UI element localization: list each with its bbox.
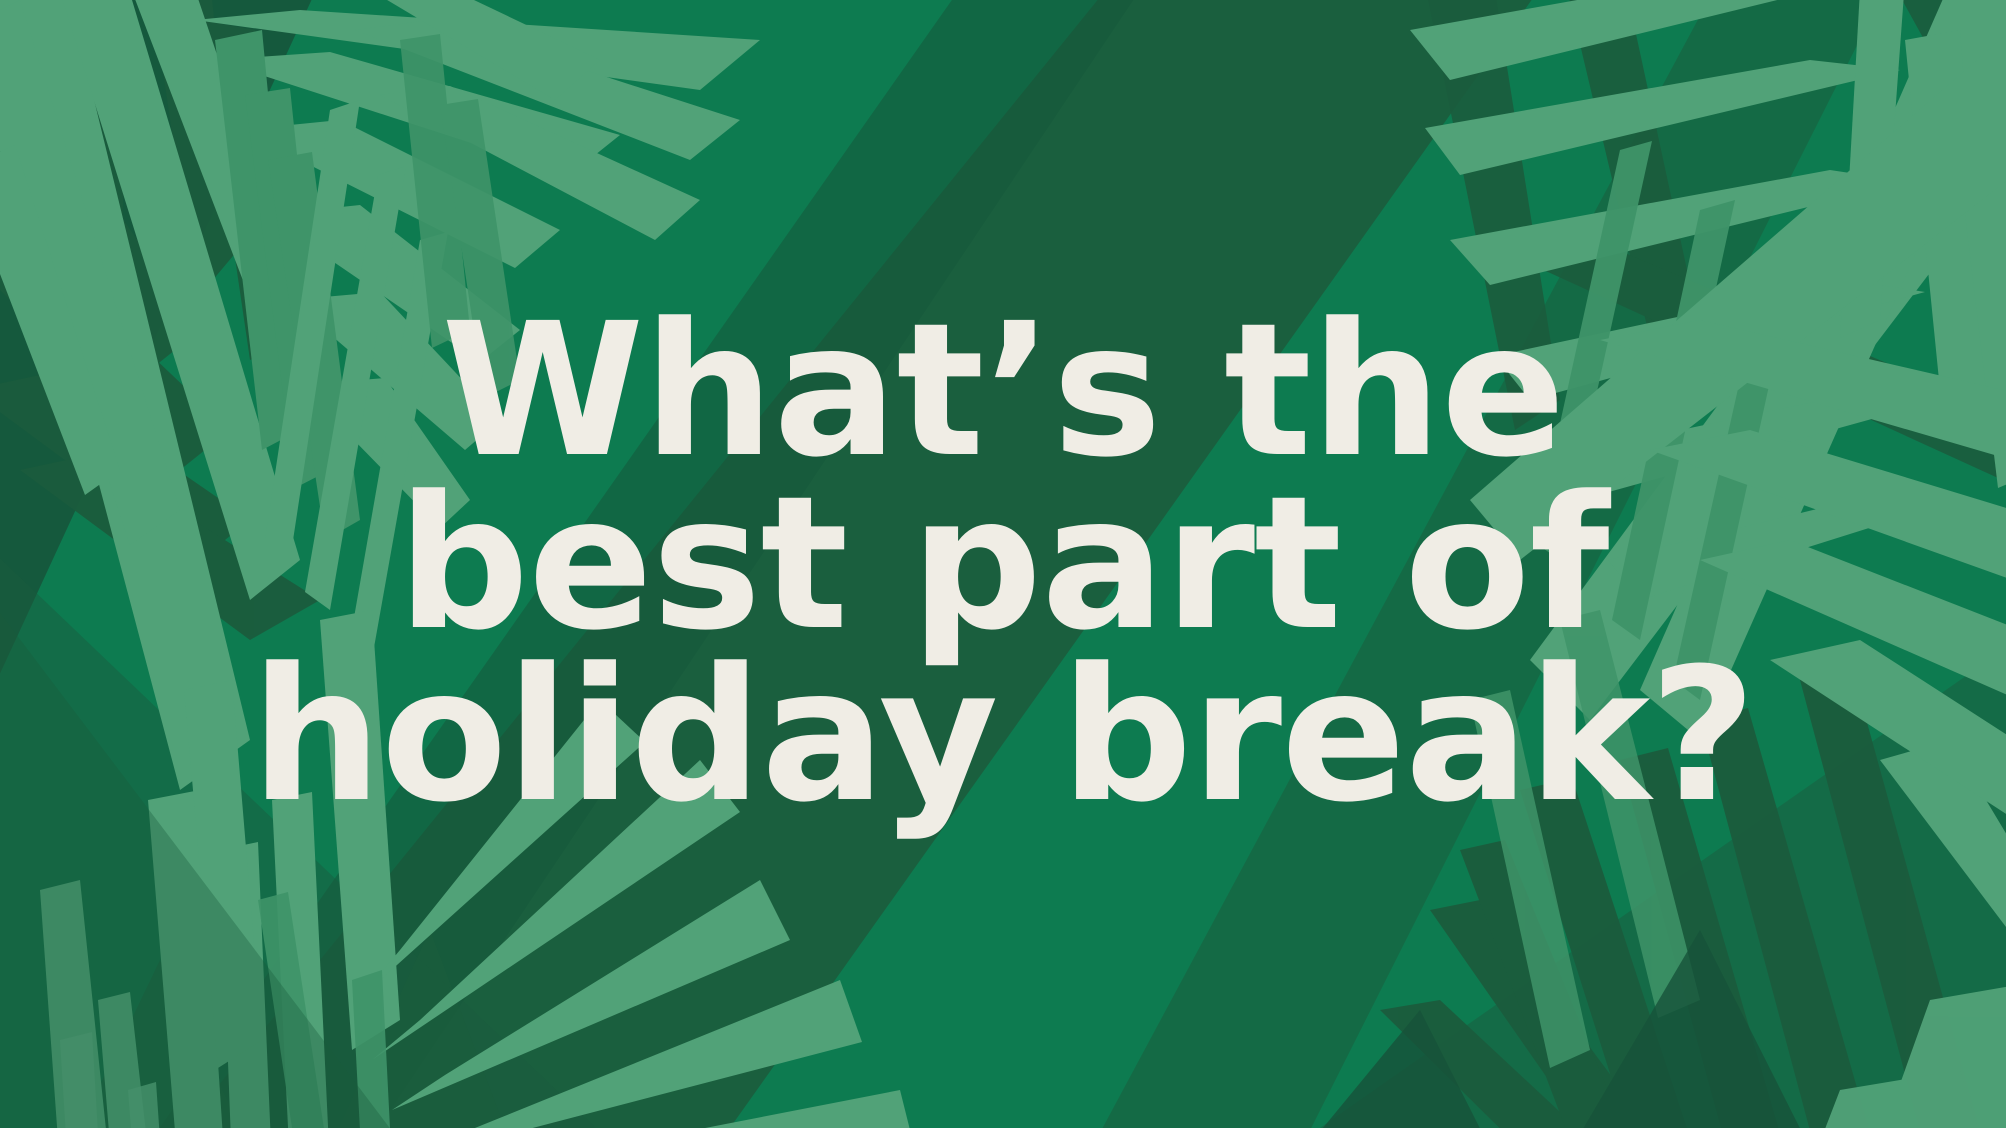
background-illustration	[0, 0, 2006, 1128]
slide-canvas: What’s the best part of holiday break?	[0, 0, 2006, 1128]
